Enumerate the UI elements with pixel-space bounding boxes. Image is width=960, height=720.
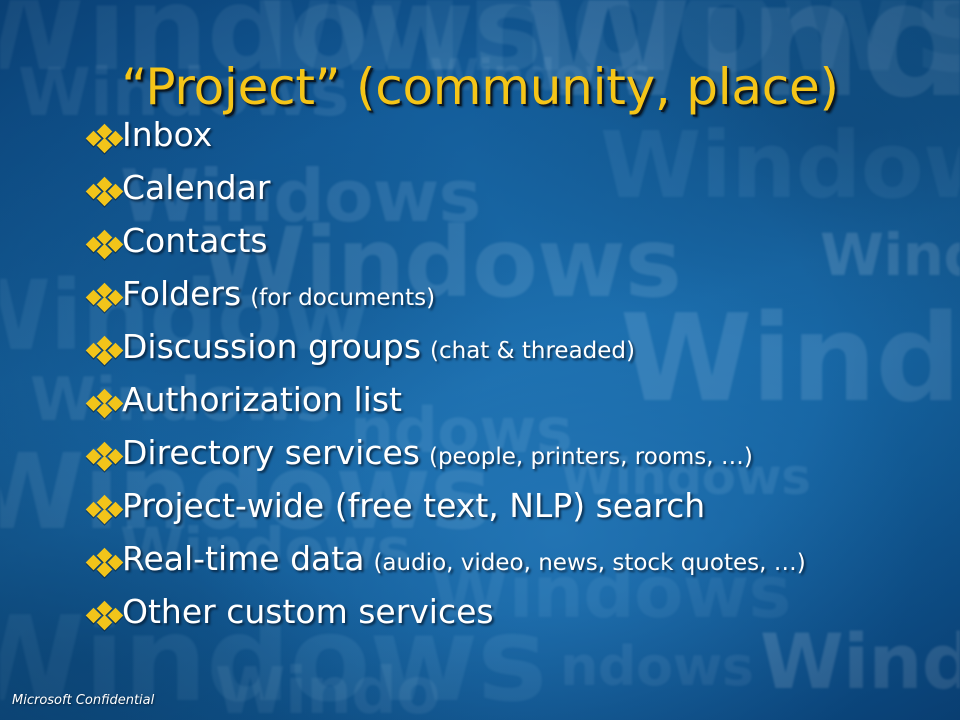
bullet-item: Directory services(people, printers, roo… [88,436,940,489]
bullet-item: Real-time data(audio, video, news, stock… [88,542,940,595]
bullet-item-label: Directory services [122,436,420,469]
bullet-item: Folders(for documents) [88,277,940,330]
bullet-item: Authorization list [88,383,940,436]
diamond-bullet-icon [88,130,122,160]
bullet-item: Project-wide (free text, NLP) search [88,489,940,542]
bullet-item-label: Contacts [122,224,268,257]
bullet-item: Inbox [88,118,940,171]
diamond-bullet-icon [88,183,122,213]
bullet-item-note: (for documents) [250,287,435,310]
bullet-item-label: Real-time data [122,542,364,575]
diamond-bullet-icon [88,607,122,637]
bullet-item: Calendar [88,171,940,224]
bullet-item-note: (audio, video, news, stock quotes, …) [373,552,805,575]
slide-title: “Project” (community, place) [0,60,960,114]
bullet-item-label: Folders [122,277,241,310]
diamond-bullet-icon [88,395,122,425]
diamond-bullet-icon [88,342,122,372]
diamond-bullet-icon [88,236,122,266]
bullet-list: InboxCalendarContactsFolders(for documen… [88,118,940,648]
bullet-item: Other custom services [88,595,940,648]
diamond-bullet-icon [88,289,122,319]
diamond-bullet-icon [88,448,122,478]
bullet-item-note: (people, printers, rooms, …) [429,446,753,469]
bullet-item-label: Calendar [122,171,270,204]
bullet-item-label: Project-wide (free text, NLP) search [122,489,705,522]
bullet-item-label: Discussion groups [122,330,421,363]
bullet-item-label: Other custom services [122,595,494,628]
presentation-slide: WindowsWindowsWindowWindowsWindowsWindow… [0,0,960,720]
bullet-item-note: (chat & threaded) [430,340,635,363]
diamond-bullet-icon [88,554,122,584]
slide-footer: Microsoft Confidential [12,693,154,708]
bullet-item-label: Authorization list [122,383,402,416]
diamond-bullet-icon [88,501,122,531]
bullet-item: Contacts [88,224,940,277]
bullet-item: Discussion groups(chat & threaded) [88,330,940,383]
bullet-item-label: Inbox [122,118,212,151]
